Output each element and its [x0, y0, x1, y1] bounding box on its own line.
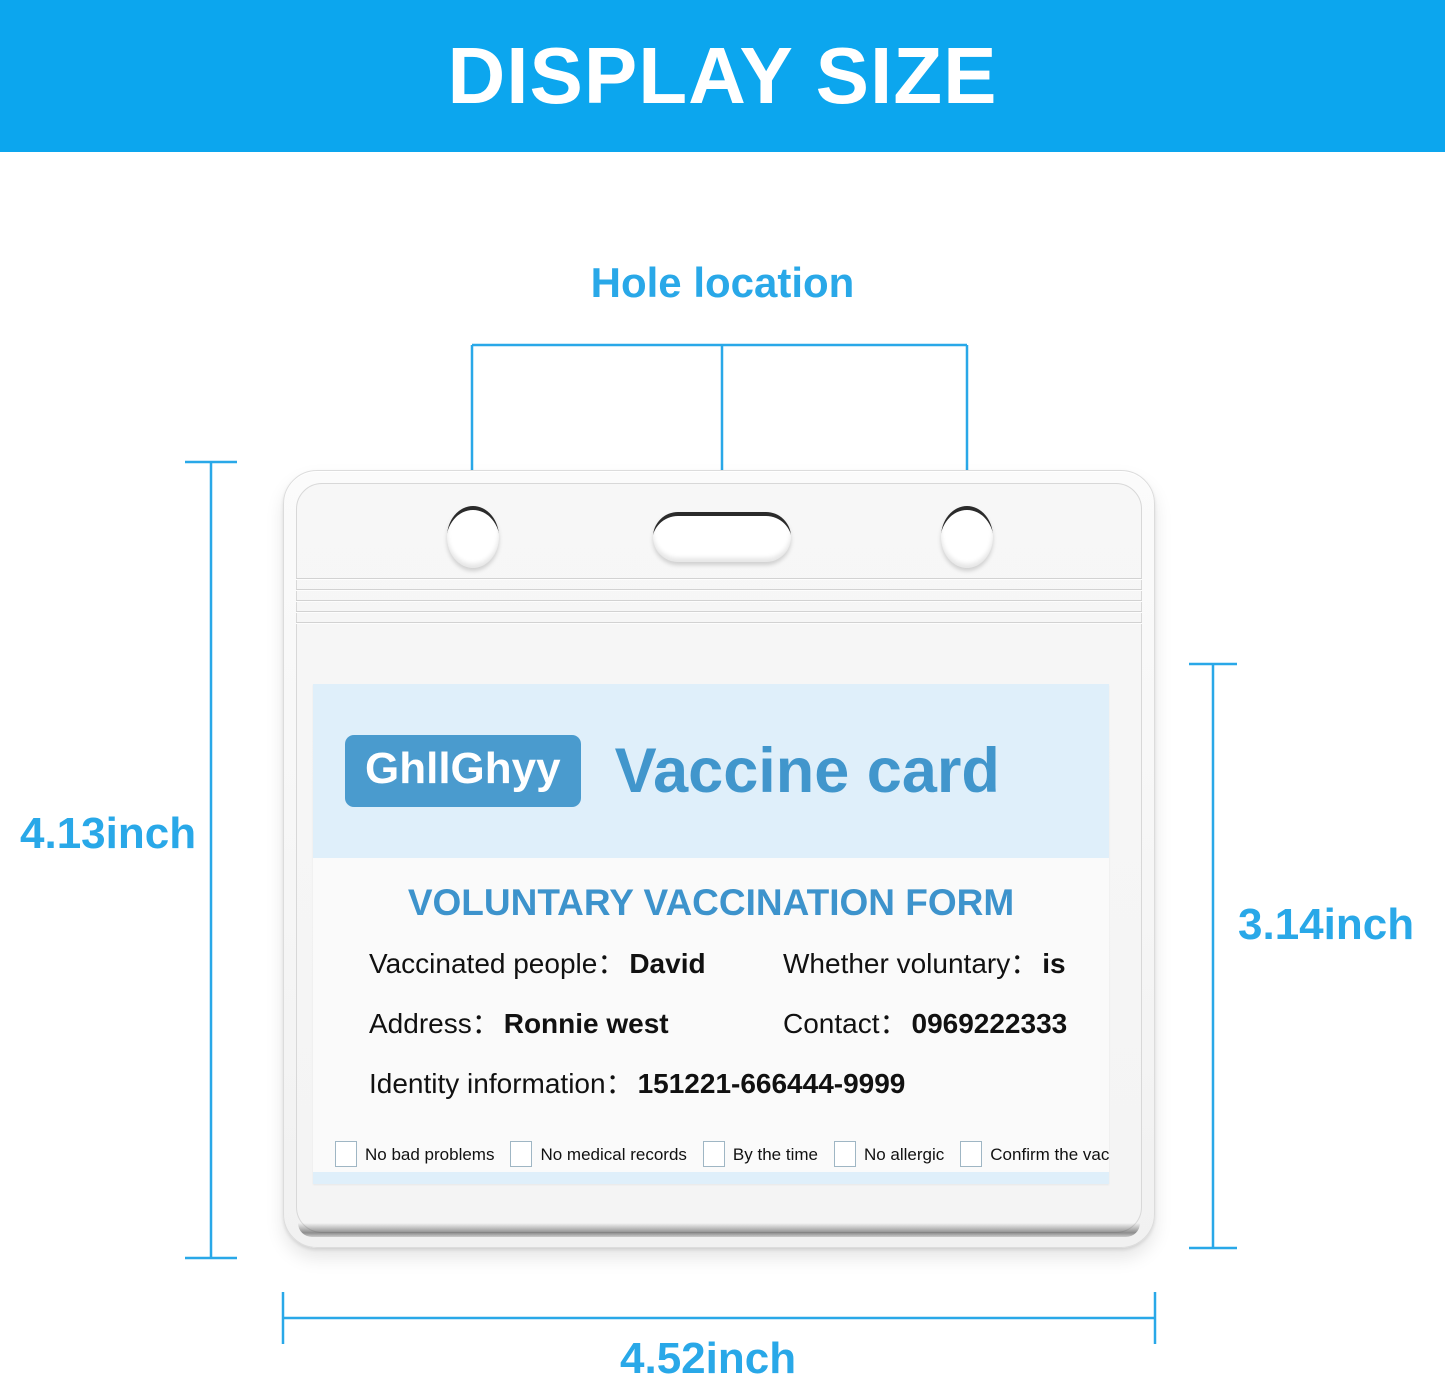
- field-label: Whether voluntary：: [783, 948, 1038, 979]
- dimension-label-height-right: 3.14inch: [1238, 903, 1414, 947]
- card-body: VOLUNTARY VACCINATION FORM Vaccinated pe…: [313, 858, 1109, 1150]
- ziplock-line: [296, 622, 1142, 623]
- card-header-band: GhllGhyy Vaccine card: [313, 684, 1109, 858]
- checkbox-label: By the time: [733, 1146, 818, 1163]
- hole-location-label: Hole location: [0, 262, 1445, 304]
- ziplock-line: [296, 578, 1142, 579]
- form-row: Address：Ronnie west Contact：0969222333: [343, 1007, 1079, 1041]
- brand-logo-badge: GhllGhyy: [345, 735, 581, 807]
- card-title: Vaccine card: [615, 740, 1000, 803]
- checkbox-label: No medical records: [540, 1146, 686, 1163]
- dimension-label-width-bottom: 4.52inch: [620, 1337, 796, 1381]
- checkbox-item[interactable]: No bad problems: [335, 1141, 494, 1167]
- field-vaccinated-people: Vaccinated people：David: [369, 947, 706, 981]
- form-heading: VOLUNTARY VACCINATION FORM: [343, 884, 1079, 921]
- form-row: Identity information：151221-666444-9999: [343, 1067, 1079, 1101]
- field-label: Identity information：: [369, 1068, 634, 1099]
- field-value: 0969222333: [912, 1008, 1068, 1039]
- ziplock-line: [296, 589, 1142, 590]
- checkbox-row: No bad problems No medical records By th…: [313, 1136, 1109, 1172]
- field-label: Contact：: [783, 1008, 908, 1039]
- field-label: Address：: [369, 1008, 500, 1039]
- checkbox-label: Confirm the vaccination: [990, 1146, 1109, 1163]
- checkbox-item[interactable]: No medical records: [510, 1141, 686, 1167]
- ziplock-line: [296, 600, 1142, 601]
- field-address: Address：Ronnie west: [369, 1007, 669, 1041]
- field-value: 151221-666444-9999: [638, 1068, 906, 1099]
- hole-left-oval-icon: [447, 506, 499, 568]
- checkbox-box-icon[interactable]: [703, 1141, 725, 1167]
- hole-center-slot-icon: [653, 512, 791, 562]
- checkbox-box-icon[interactable]: [335, 1141, 357, 1167]
- field-whether-voluntary: Whether voluntary：is: [783, 947, 1066, 981]
- field-identity-information: Identity information：151221-666444-9999: [369, 1067, 905, 1101]
- checkbox-item[interactable]: No allergic: [834, 1141, 944, 1167]
- field-value: Ronnie west: [504, 1008, 669, 1039]
- checkbox-box-icon[interactable]: [510, 1141, 532, 1167]
- hole-right-oval-icon: [941, 506, 993, 568]
- header-banner: DISPLAY SIZE: [0, 0, 1445, 152]
- field-value: is: [1042, 948, 1065, 979]
- checkbox-label: No allergic: [864, 1146, 944, 1163]
- holder-bottom-shadow: [298, 1223, 1140, 1237]
- checkbox-item[interactable]: Confirm the vaccination: [960, 1141, 1109, 1167]
- checkbox-item[interactable]: By the time: [703, 1141, 818, 1167]
- vaccine-card: GhllGhyy Vaccine card VOLUNTARY VACCINAT…: [313, 684, 1109, 1184]
- ziplock-line: [296, 611, 1142, 612]
- checkbox-box-icon[interactable]: [960, 1141, 982, 1167]
- field-value: David: [629, 948, 705, 979]
- card-bottom-strip: [313, 1172, 1109, 1184]
- field-label: Vaccinated people：: [369, 948, 625, 979]
- checkbox-label: No bad problems: [365, 1146, 494, 1163]
- checkbox-box-icon[interactable]: [834, 1141, 856, 1167]
- form-row: Vaccinated people：David Whether voluntar…: [343, 947, 1079, 981]
- dimension-label-height-left: 4.13inch: [20, 812, 196, 856]
- page-title: DISPLAY SIZE: [448, 36, 998, 116]
- field-contact: Contact：0969222333: [783, 1007, 1067, 1041]
- ziplock-ridges: [296, 578, 1142, 630]
